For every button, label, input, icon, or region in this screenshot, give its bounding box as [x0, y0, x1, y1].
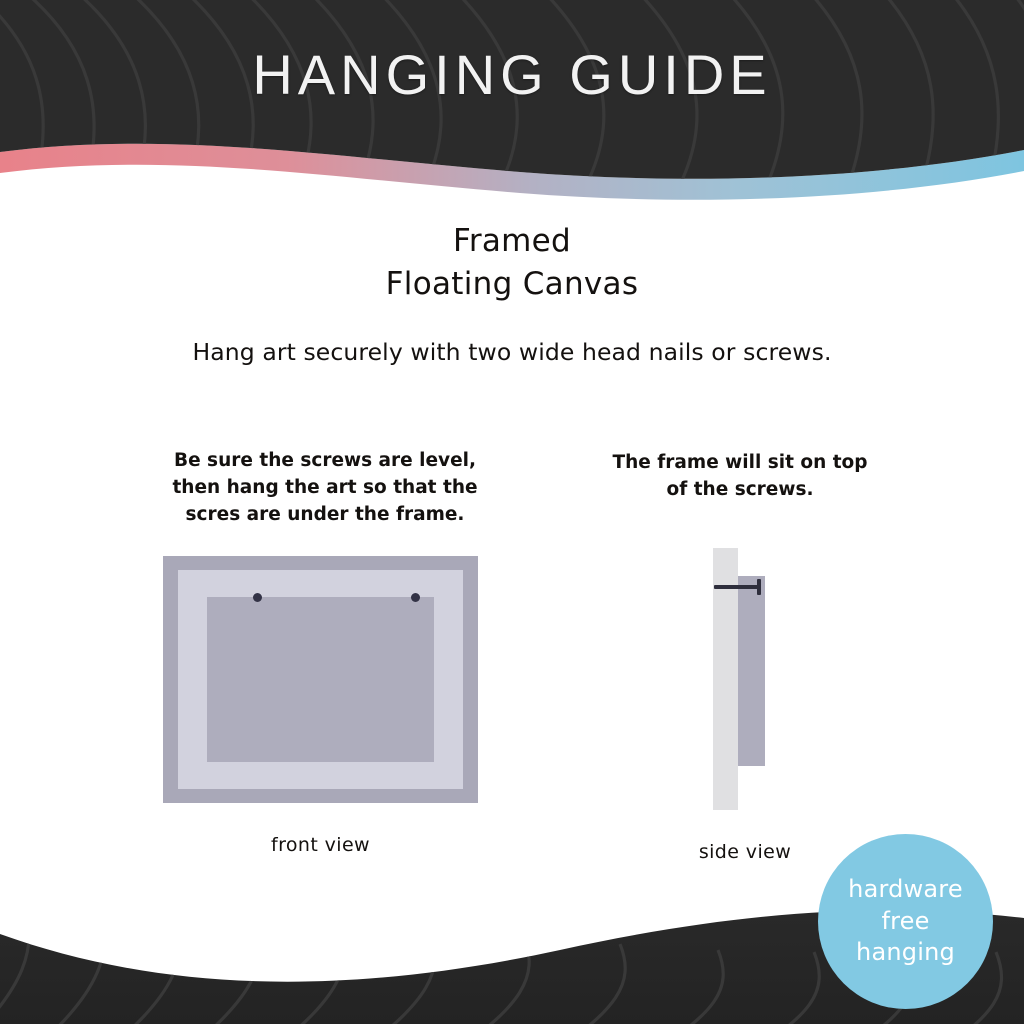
side-view-caption: The frame will sit on top of the screws. [595, 450, 885, 504]
screw-dot-right-icon [411, 593, 420, 602]
front-view-diagram [163, 556, 478, 803]
page-title: HANGING GUIDE [0, 46, 1024, 105]
side-view-diagram [705, 546, 785, 816]
front-view-label: front view [163, 834, 478, 856]
product-heading-line-1: Framed [0, 220, 1024, 263]
side-view-caption-line-2: of the screws. [595, 477, 885, 504]
front-canvas-surface [207, 597, 434, 762]
front-frame-mat-border [178, 570, 463, 789]
badge-line-1: hardware [848, 874, 963, 906]
nail-shaft-icon [714, 585, 761, 589]
product-heading-line-2: Floating Canvas [0, 263, 1024, 306]
front-view-caption-line-3: scres are under the frame. [140, 502, 510, 529]
front-view-caption-line-1: Be sure the screws are level, [140, 448, 510, 475]
hardware-free-hanging-badge: hardware free hanging [818, 834, 993, 1009]
screw-dot-left-icon [253, 593, 262, 602]
product-heading: Framed Floating Canvas [0, 220, 1024, 306]
side-view-frame-profile [738, 576, 765, 766]
nail-head-icon [757, 579, 761, 595]
front-view-caption-line-2: then hang the art so that the [140, 475, 510, 502]
side-view-label: side view [645, 841, 845, 863]
side-view-caption-line-1: The frame will sit on top [595, 450, 885, 477]
badge-line-2: free [881, 906, 929, 938]
intro-instruction: Hang art securely with two wide head nai… [0, 338, 1024, 366]
front-view-caption: Be sure the screws are level, then hang … [140, 448, 510, 528]
front-frame-outer-border [163, 556, 478, 803]
hanging-guide-page: HANGING GUIDE Framed Floating Canvas Han… [0, 0, 1024, 1024]
badge-line-3: hanging [856, 937, 955, 969]
